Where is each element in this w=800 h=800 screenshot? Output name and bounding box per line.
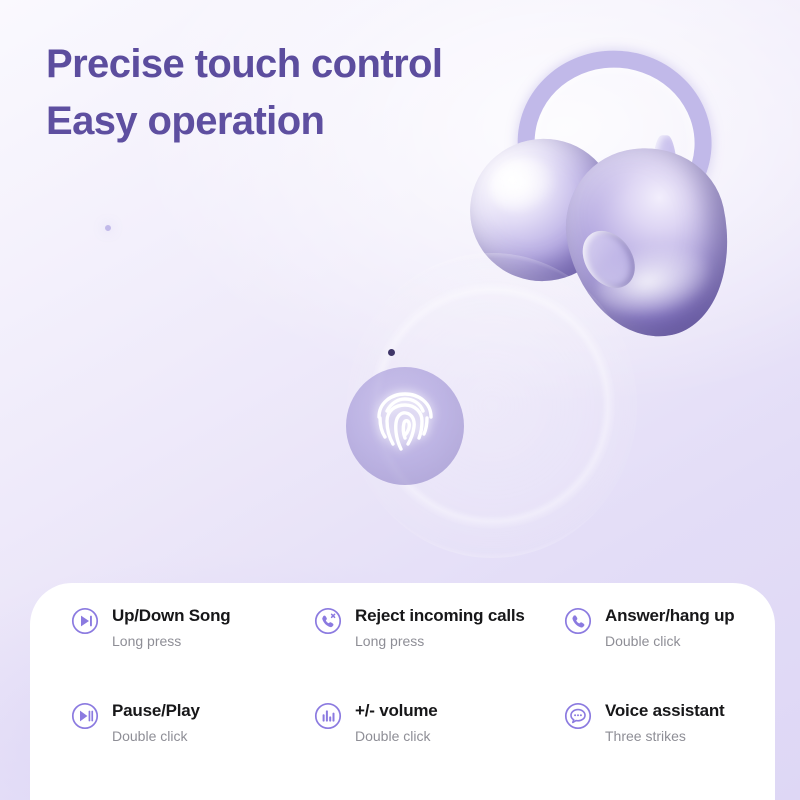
microphone-hole: [388, 349, 395, 356]
feature-title: Voice assistant: [605, 700, 725, 721]
feature-text: +/- volume Double click: [355, 700, 438, 745]
headline-line-2: Easy operation: [46, 93, 442, 150]
voice-assistant-icon: [563, 701, 593, 731]
feature-item[interactable]: +/- volume Double click: [313, 700, 563, 795]
next-track-icon: [70, 606, 100, 636]
feature-title: Up/Down Song: [112, 605, 230, 626]
product-feature-banner: Precise touch control Easy operation: [0, 0, 800, 800]
feature-gesture: Double click: [112, 728, 200, 745]
play-pause-icon: [70, 701, 100, 731]
feature-text: Voice assistant Three strikes: [605, 700, 725, 745]
ear-hook: [105, 225, 111, 231]
feature-item[interactable]: Voice assistant Three strikes: [563, 700, 800, 795]
feature-gesture: Double click: [355, 728, 438, 745]
feature-item[interactable]: Reject incoming calls Long press: [313, 605, 563, 700]
feature-item[interactable]: Up/Down Song Long press: [70, 605, 313, 700]
touch-control-pad: [346, 367, 464, 485]
feature-gesture: Double click: [605, 633, 734, 650]
feature-gesture: Long press: [355, 633, 525, 650]
feature-title: +/- volume: [355, 700, 438, 721]
feature-grid: Up/Down Song Long press Reject incoming …: [30, 583, 775, 800]
feature-gesture: Three strikes: [605, 728, 725, 745]
volume-equalizer-icon: [313, 701, 343, 731]
feature-text: Answer/hang up Double click: [605, 605, 734, 650]
feature-text: Reject incoming calls Long press: [355, 605, 525, 650]
reject-call-icon: [313, 606, 343, 636]
headline-line-1: Precise touch control: [46, 36, 442, 93]
feature-gesture: Long press: [112, 633, 230, 650]
feature-text: Pause/Play Double click: [112, 700, 200, 745]
feature-title: Pause/Play: [112, 700, 200, 721]
answer-call-icon: [563, 606, 593, 636]
earbud-primary: [105, 225, 535, 600]
feature-title: Reject incoming calls: [355, 605, 525, 626]
headline: Precise touch control Easy operation: [46, 36, 442, 150]
feature-card: Up/Down Song Long press Reject incoming …: [30, 583, 775, 800]
feature-title: Answer/hang up: [605, 605, 734, 626]
feature-item[interactable]: Answer/hang up Double click: [563, 605, 800, 700]
feature-item[interactable]: Pause/Play Double click: [70, 700, 313, 795]
fingerprint-icon: [373, 389, 437, 464]
feature-text: Up/Down Song Long press: [112, 605, 230, 650]
